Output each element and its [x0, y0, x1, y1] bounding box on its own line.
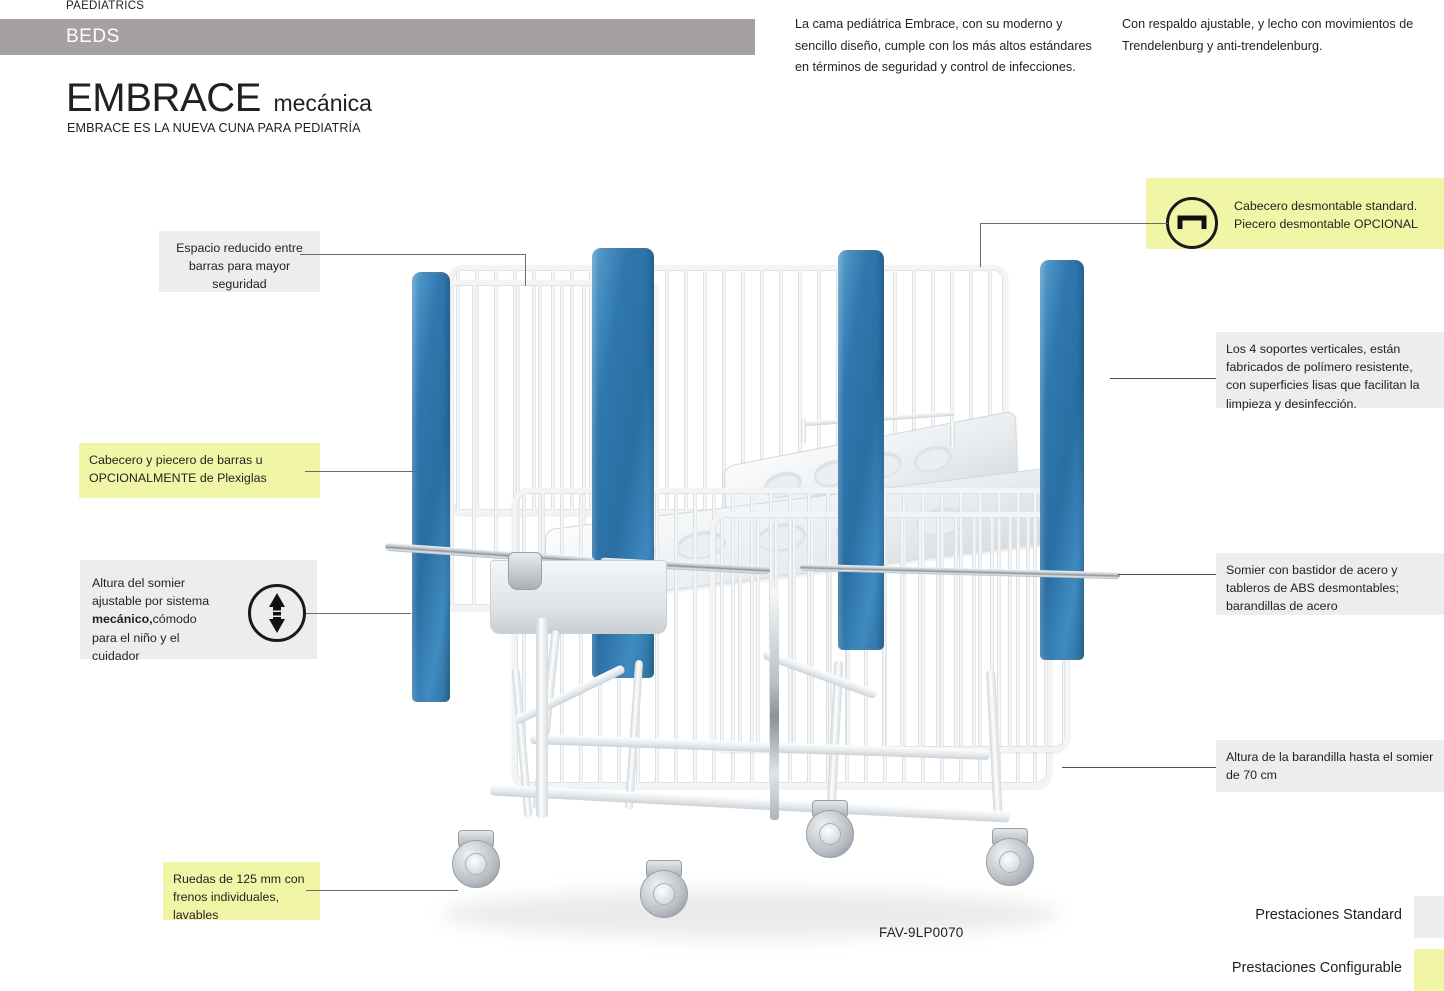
- intro-paragraph-1: La cama pediátrica Embrace, con su moder…: [795, 14, 1105, 79]
- callout-soportes-verticales-text: Los 4 soportes verticales, están fabrica…: [1226, 342, 1420, 411]
- legend-swatch-configurable: [1414, 949, 1444, 991]
- callout-somier-bastidor: Somier con bastidor de acero y tableros …: [1216, 553, 1444, 615]
- callout-espacio-reducido: Espacio reducido entre barras para mayor…: [159, 231, 320, 292]
- leader-line-cabecero-desmontable-v: [980, 223, 981, 267]
- callout-cabecero-piecero-barras-text: Cabecero y piecero de barras u OPCIONALM…: [89, 453, 267, 485]
- kicker-paediatrics: PAEDIATRICS: [66, 0, 144, 12]
- beds-banner-label: BEDS: [66, 26, 120, 48]
- legend-swatch-standard: [1414, 896, 1444, 938]
- callout-altura-barandilla: Altura de la barandilla hasta el somier …: [1216, 740, 1444, 792]
- callout-altura-barandilla-text: Altura de la barandilla hasta el somier …: [1226, 750, 1433, 782]
- post-vertical-4: [1040, 260, 1084, 660]
- callout-altura-somier-text-bold: mecánico,: [92, 612, 153, 626]
- leader-line-espacio-h: [300, 254, 526, 255]
- product-illustration: [330, 230, 1160, 970]
- leader-line-somier-bastidor: [1118, 574, 1216, 575]
- leader-line-ruedas: [306, 890, 458, 891]
- intro-paragraph-2: Con respaldo ajustable, y lecho con movi…: [1122, 14, 1422, 57]
- callout-altura-somier-text-before: Altura del somier ajustable por sistema: [92, 576, 209, 608]
- leader-line-cabecero-barras: [305, 471, 420, 472]
- leader-line-altura-barandilla: [1062, 767, 1216, 768]
- callout-somier-bastidor-text: Somier con bastidor de acero y tableros …: [1226, 563, 1399, 613]
- leader-line-cabecero-desmontable-h: [980, 223, 1168, 224]
- page-title-main: EMBRACE: [66, 76, 261, 120]
- headboard-icon: [1166, 197, 1218, 249]
- callout-ruedas-125mm-text: Ruedas de 125 mm con frenos individuales…: [173, 872, 305, 922]
- rail-front-right: [710, 512, 1070, 752]
- leader-line-soportes: [1110, 378, 1216, 379]
- post-vertical-1: [412, 272, 450, 702]
- legend-label-configurable: Prestaciones Configurable: [1130, 960, 1402, 976]
- page-title: EMBRACE mecánica: [66, 76, 372, 121]
- callout-soportes-verticales: Los 4 soportes verticales, están fabrica…: [1216, 332, 1444, 408]
- leader-line-espacio-v: [525, 254, 526, 286]
- callout-espacio-reducido-text: Espacio reducido entre barras para mayor…: [176, 241, 303, 291]
- callout-cabecero-piecero-barras: Cabecero y piecero de barras u OPCIONALM…: [79, 443, 320, 498]
- up-down-arrow-icon: [248, 584, 306, 642]
- legend-label-standard: Prestaciones Standard: [1150, 907, 1402, 923]
- product-code: FAV-9LP0070: [879, 925, 964, 940]
- page-tagline: EMBRACE ES LA NUEVA CUNA PARA PEDIATRÍA: [67, 121, 361, 135]
- leader-line-altura-somier: [306, 613, 411, 614]
- page-title-sub: mecánica: [273, 90, 371, 116]
- post-vertical-3: [838, 250, 884, 650]
- callout-cabecero-desmontable-text: Cabecero desmontable standard. Piecero d…: [1234, 199, 1418, 231]
- callout-ruedas-125mm: Ruedas de 125 mm con frenos individuales…: [163, 862, 320, 920]
